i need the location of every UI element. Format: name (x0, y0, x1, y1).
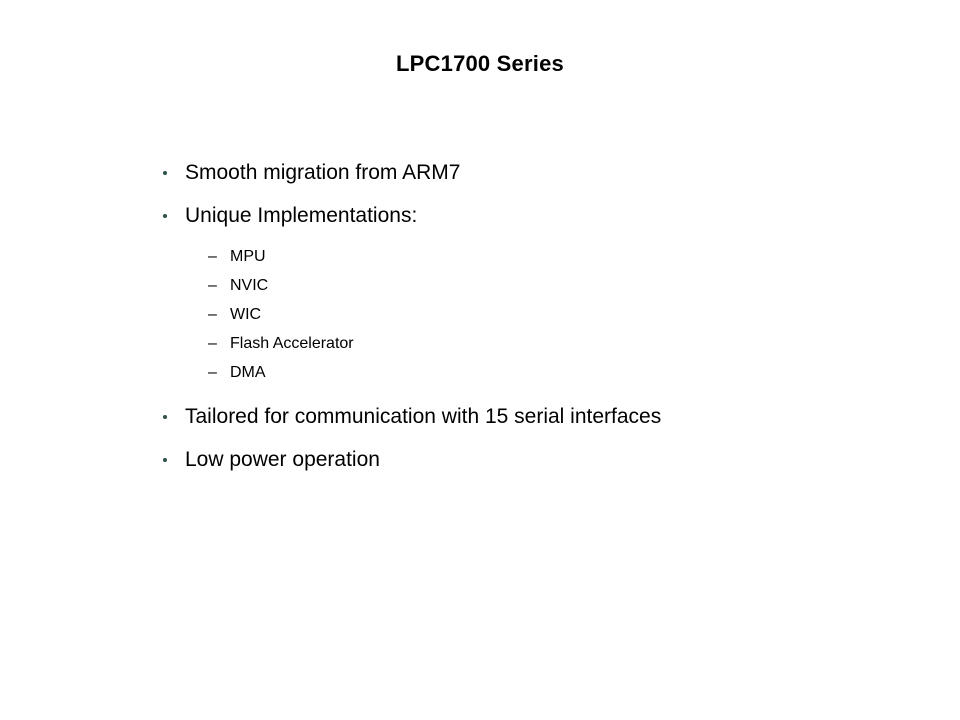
list-item: Smooth migration from ARM7 (158, 158, 898, 188)
sub-list-item-label: Flash Accelerator (230, 329, 354, 358)
sub-list-item: – Flash Accelerator (158, 329, 898, 358)
sub-list: – MPU – NVIC – WIC – Flash Accelerator –… (158, 242, 898, 387)
dash-marker-icon: – (208, 329, 217, 358)
list-item: Unique Implementations: (158, 201, 898, 231)
bullet-dot-icon (163, 415, 167, 419)
presentation-slide: LPC1700 Series Smooth migration from ARM… (0, 0, 960, 720)
bullet-dot-icon (163, 171, 167, 175)
list-item: Low power operation (158, 445, 898, 475)
sub-list-item-label: NVIC (230, 271, 268, 300)
bullet-dot-icon (163, 214, 167, 218)
dash-marker-icon: – (208, 242, 217, 271)
list-item: Tailored for communication with 15 seria… (158, 402, 898, 432)
dash-marker-icon: – (208, 271, 217, 300)
dash-marker-icon: – (208, 300, 217, 329)
list-item-label: Unique Implementations: (185, 201, 417, 231)
bullet-dot-icon (163, 458, 167, 462)
bullet-list: Smooth migration from ARM7 Unique Implem… (158, 158, 898, 488)
dash-marker-icon: – (208, 358, 217, 387)
sub-list-item: – DMA (158, 358, 898, 387)
list-item-label: Tailored for communication with 15 seria… (185, 402, 661, 432)
sub-list-item: – MPU (158, 242, 898, 271)
sub-list-item: – NVIC (158, 271, 898, 300)
sub-list-item-label: MPU (230, 242, 266, 271)
list-item-label: Low power operation (185, 445, 380, 475)
page-title: LPC1700 Series (0, 50, 960, 78)
sub-list-item-label: WIC (230, 300, 261, 329)
sub-list-item: – WIC (158, 300, 898, 329)
sub-list-item-label: DMA (230, 358, 266, 387)
list-item-label: Smooth migration from ARM7 (185, 158, 460, 188)
